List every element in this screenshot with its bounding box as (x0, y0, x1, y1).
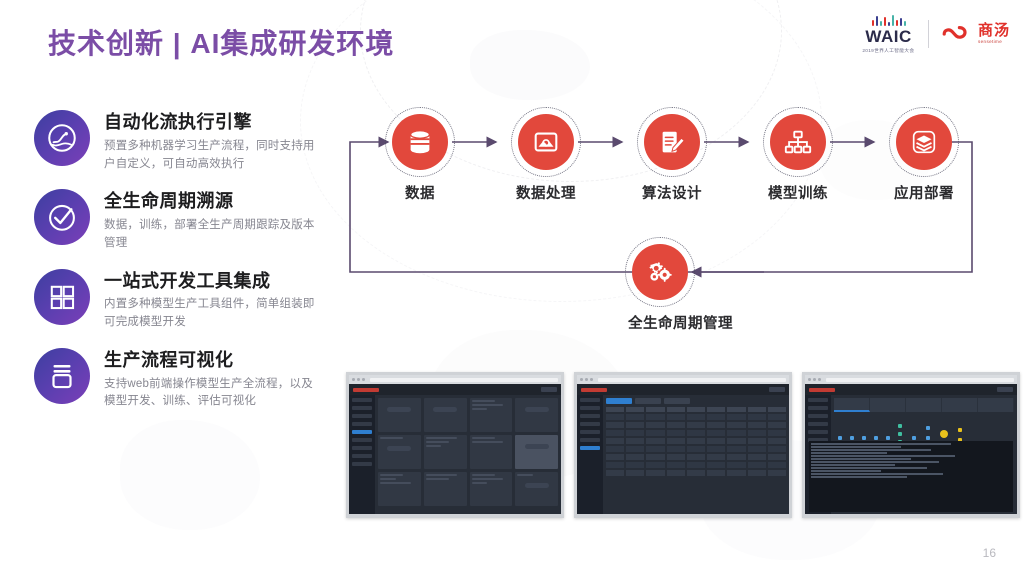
app-header (577, 384, 789, 395)
logo-divider (928, 20, 929, 48)
screenshot-strip (346, 372, 1020, 518)
sidebar-item[interactable] (580, 438, 600, 442)
sidebar-item[interactable] (352, 446, 372, 450)
node-badge (632, 244, 688, 300)
graph-step-tab[interactable] (906, 398, 942, 412)
app-header-button[interactable] (541, 387, 557, 392)
graph-step-tab[interactable] (942, 398, 978, 412)
node-badge (896, 114, 952, 170)
pipeline-diagram: 数据 数据处理 算法设计 (344, 96, 1012, 346)
model-card[interactable] (424, 435, 467, 469)
database-icon (405, 127, 435, 157)
sensetime-en-name: sensetime (978, 40, 1010, 45)
browser-url-bar (370, 378, 558, 382)
model-card[interactable] (424, 472, 467, 506)
pipeline-node-model-training[interactable]: 模型训练 (766, 114, 830, 203)
model-card-selected[interactable] (515, 435, 558, 469)
node-label: 应用部署 (892, 182, 956, 203)
model-card[interactable] (424, 398, 467, 432)
node-badge (518, 114, 574, 170)
sidebar-item[interactable] (580, 414, 600, 418)
feature-item: 自动化流执行引擎 预置多种机器学习生产流程，同时支持用户自定义，可自动高效执行 (34, 110, 334, 173)
feature-item: 全生命周期溯源 数据，训练，部署全生产周期跟踪及版本管理 (34, 189, 334, 252)
graph-step-tab[interactable] (870, 398, 906, 412)
sidebar-item[interactable] (580, 398, 600, 402)
waic-subtitle: 2019世界人工智能大会 (863, 47, 915, 54)
graph-step-tab[interactable] (978, 398, 1014, 412)
feature-description: 支持web前端操作模型生产全流程，以及模型开发、训练、评估可视化 (104, 376, 316, 412)
sidebar-item[interactable] (808, 414, 828, 418)
table-row[interactable] (606, 430, 786, 436)
trend-chart-icon (45, 121, 79, 155)
browser-chrome (805, 375, 1017, 384)
app-logo (353, 388, 379, 392)
feature-icon-badge (34, 110, 90, 166)
feature-title: 一站式开发工具集成 (104, 271, 316, 292)
page-title: 技术创新 | AI集成研发环境 (48, 22, 394, 62)
waic-bars-icon (872, 14, 906, 26)
app-content (831, 395, 1017, 514)
node-badge (392, 114, 448, 170)
layers-stack-icon (909, 127, 939, 157)
app-header-button[interactable] (997, 387, 1013, 392)
table-row[interactable] (606, 446, 786, 452)
logo-group: WAIC 2019世界人工智能大会 商汤 sensetime (861, 12, 1010, 56)
node-label: 数据 (388, 182, 452, 203)
model-card[interactable] (515, 472, 558, 506)
waic-logo: WAIC 2019世界人工智能大会 (861, 14, 916, 54)
pipeline-node-app-deployment[interactable]: 应用部署 (892, 114, 956, 203)
graph-step-tabs (834, 398, 1014, 412)
feature-icon-badge (34, 348, 90, 404)
pipeline-graph-screenshot[interactable] (802, 372, 1020, 518)
model-gallery-screenshot[interactable] (346, 372, 564, 518)
sidebar-item-active[interactable] (580, 446, 600, 450)
table-row[interactable] (606, 470, 786, 476)
node-badge (644, 114, 700, 170)
sidebar-item[interactable] (580, 430, 600, 434)
tab[interactable] (664, 398, 690, 404)
app-content (603, 395, 789, 514)
app-header (805, 384, 1017, 395)
sensetime-infinity-icon (941, 24, 973, 44)
pipeline-node-data-processing[interactable]: 数据处理 (514, 114, 578, 203)
feature-list: 自动化流执行引擎 预置多种机器学习生产流程，同时支持用户自定义，可自动高效执行 … (34, 110, 334, 427)
model-card[interactable] (515, 398, 558, 432)
grid-squares-icon (45, 280, 79, 314)
container-stack-icon (45, 359, 79, 393)
table-row[interactable] (606, 438, 786, 444)
tab[interactable] (635, 398, 661, 404)
browser-chrome (349, 375, 561, 384)
page-number: 16 (983, 546, 996, 560)
sidebar-item[interactable] (808, 406, 828, 410)
app-sidebar (349, 395, 375, 514)
sidebar-item[interactable] (808, 398, 828, 402)
table-row[interactable] (606, 454, 786, 460)
model-card[interactable] (378, 398, 421, 432)
sidebar-item[interactable] (352, 438, 372, 442)
sidebar-item[interactable] (580, 422, 600, 426)
node-badge (770, 114, 826, 170)
table-row[interactable] (606, 462, 786, 468)
sensetime-logo: 商汤 sensetime (941, 23, 1010, 45)
sidebar-item[interactable] (352, 454, 372, 458)
document-pencil-icon (657, 127, 687, 157)
app-content (375, 395, 561, 514)
check-circle-icon (45, 200, 79, 234)
model-card-grid (378, 398, 558, 506)
feature-item: 一站式开发工具集成 内置多种模型生产工具组件，简单组装即可完成模型开发 (34, 269, 334, 332)
sidebar-item[interactable] (352, 414, 372, 418)
feature-icon-badge (34, 269, 90, 325)
feature-icon-badge (34, 189, 90, 245)
sidebar-item[interactable] (808, 422, 828, 426)
feature-title: 自动化流执行引擎 (104, 112, 316, 133)
sidebar-item[interactable] (352, 406, 372, 410)
node-label: 数据处理 (514, 182, 578, 203)
sidebar-item[interactable] (352, 422, 372, 426)
model-card[interactable] (470, 435, 513, 469)
app-logo (581, 388, 607, 392)
network-tree-icon (783, 127, 813, 157)
table-tabs (606, 398, 786, 404)
table-row[interactable] (606, 414, 786, 420)
app-logo (809, 388, 835, 392)
sidebar-item[interactable] (352, 398, 372, 402)
feature-description: 预置多种机器学习生产流程，同时支持用户自定义，可自动高效执行 (104, 138, 316, 174)
pipeline-node-data[interactable]: 数据 (388, 114, 452, 203)
browser-chrome (577, 375, 789, 384)
table-row[interactable] (606, 422, 786, 428)
app-header (349, 384, 561, 395)
gears-icon (645, 257, 675, 287)
sensetime-cn-name: 商汤 (978, 23, 1010, 38)
sidebar-item[interactable] (352, 462, 372, 466)
model-card[interactable] (470, 472, 513, 506)
sidebar-item-active[interactable] (352, 430, 372, 434)
job-table-screenshot[interactable] (574, 372, 792, 518)
model-card[interactable] (470, 398, 513, 432)
browser-url-bar (826, 378, 1014, 382)
node-label: 模型训练 (766, 182, 830, 203)
feature-description: 内置多种模型生产工具组件，简单组装即可完成模型开发 (104, 296, 316, 332)
log-console[interactable] (831, 441, 1013, 512)
feature-description: 数据，训练，部署全生产周期跟踪及版本管理 (104, 217, 316, 253)
sidebar-item[interactable] (580, 406, 600, 410)
node-label: 全生命周期管理 (628, 312, 692, 333)
app-sidebar (577, 395, 603, 514)
node-label: 算法设计 (640, 182, 704, 203)
app-header-button[interactable] (769, 387, 785, 392)
feature-title: 全生命周期溯源 (104, 191, 316, 212)
tab[interactable] (606, 398, 632, 404)
graph-step-tab-active[interactable] (834, 398, 870, 412)
feature-item: 生产流程可视化 支持web前端操作模型生产全流程，以及模型开发、训练、评估可视化 (34, 348, 334, 411)
browser-url-bar (598, 378, 786, 382)
pipeline-node-algorithm-design[interactable]: 算法设计 (640, 114, 704, 203)
sidebar-item[interactable] (808, 430, 828, 434)
slide-root: 技术创新 | AI集成研发环境 WAIC 2019世界人工智能大会 (0, 0, 1024, 574)
image-process-icon (531, 127, 561, 157)
waic-wordmark: WAIC (865, 28, 911, 45)
table-header-row (606, 407, 786, 412)
model-card[interactable] (378, 435, 421, 469)
feature-title: 生产流程可视化 (104, 350, 316, 371)
model-card[interactable] (378, 472, 421, 506)
pipeline-node-lifecycle-management[interactable]: 全生命周期管理 (628, 244, 692, 333)
